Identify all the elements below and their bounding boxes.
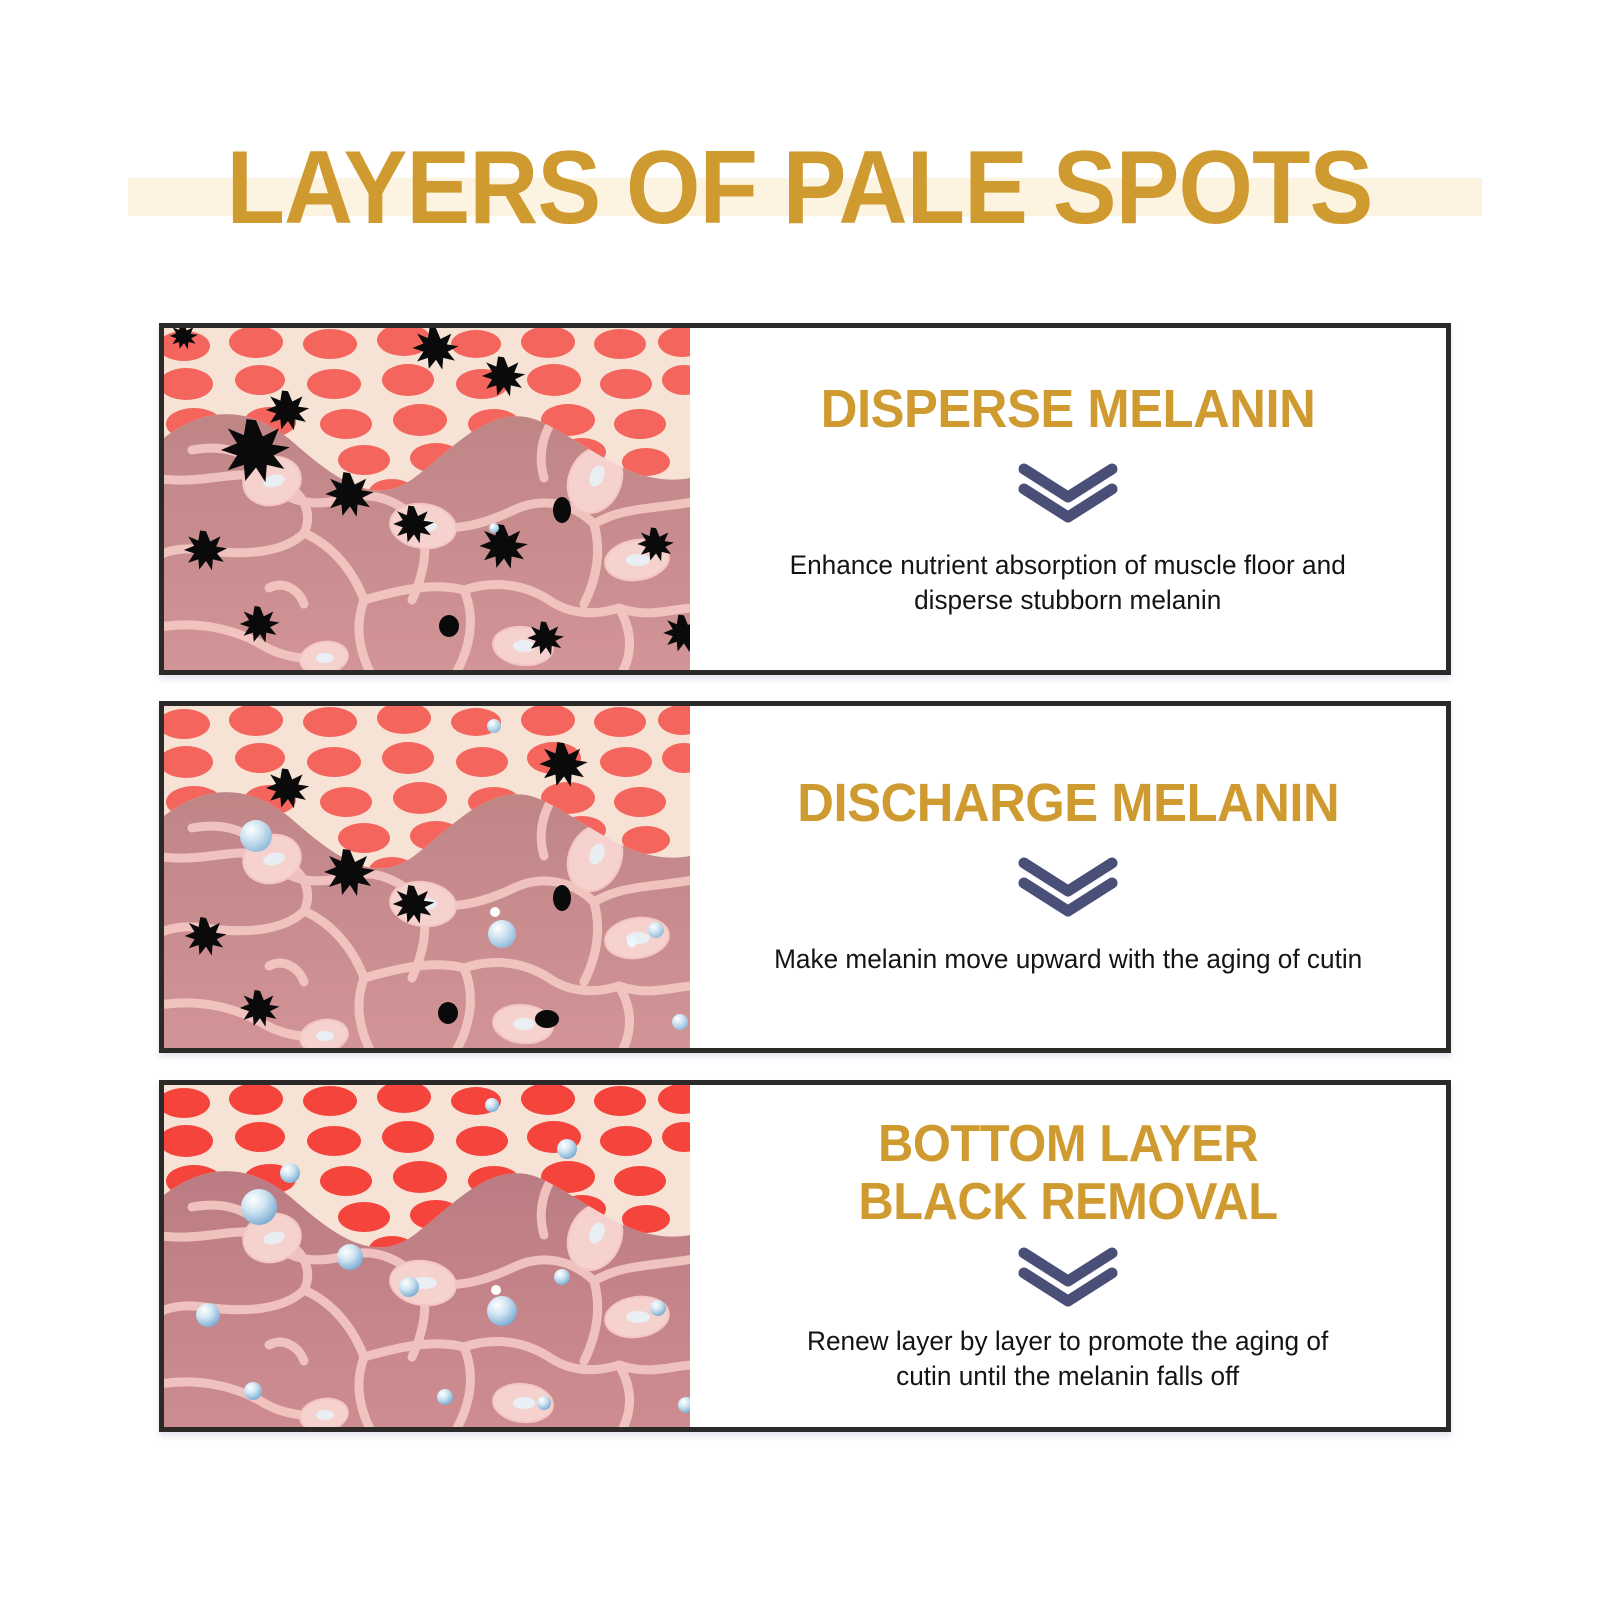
panel-heading-3: BOTTOM LAYER BLACK REMOVAL: [858, 1115, 1277, 1231]
double-chevron-down-icon: [1014, 461, 1122, 528]
double-chevron-down-icon: [1014, 1245, 1122, 1312]
panel-body-2: DISCHARGE MELANIN Make melanin move upwa…: [690, 706, 1446, 1048]
skin-cross-section-svg-3: [164, 1085, 690, 1427]
page-title-block: LAYERS OF PALE SPOTS: [0, 128, 1599, 268]
double-chevron-down-icon: [1014, 855, 1122, 922]
panel-caption-1: Enhance nutrient absorption of muscle fl…: [790, 548, 1346, 618]
panel-caption-2: Make melanin move upward with the aging …: [774, 942, 1362, 977]
page-title: LAYERS OF PALE SPOTS: [64, 128, 1535, 248]
step-panel-1: DISPERSE MELANIN Enhance nutrient absorp…: [159, 323, 1451, 675]
skin-cross-section-svg-1: [164, 328, 690, 670]
panel-body-3: BOTTOM LAYER BLACK REMOVAL Renew layer b…: [690, 1085, 1446, 1427]
skin-illustration-3: [164, 1085, 690, 1427]
skin-illustration-1: [164, 328, 690, 670]
step-panel-2: DISCHARGE MELANIN Make melanin move upwa…: [159, 701, 1451, 1053]
panel-caption-3: Renew layer by layer to promote the agin…: [807, 1324, 1328, 1394]
skin-illustration-2: [164, 706, 690, 1048]
panel-heading-1: DISPERSE MELANIN: [821, 379, 1316, 439]
skin-cross-section-svg-2: [164, 706, 690, 1048]
step-panel-3: BOTTOM LAYER BLACK REMOVAL Renew layer b…: [159, 1080, 1451, 1432]
panel-body-1: DISPERSE MELANIN Enhance nutrient absorp…: [690, 328, 1446, 670]
panel-heading-2: DISCHARGE MELANIN: [797, 773, 1339, 833]
